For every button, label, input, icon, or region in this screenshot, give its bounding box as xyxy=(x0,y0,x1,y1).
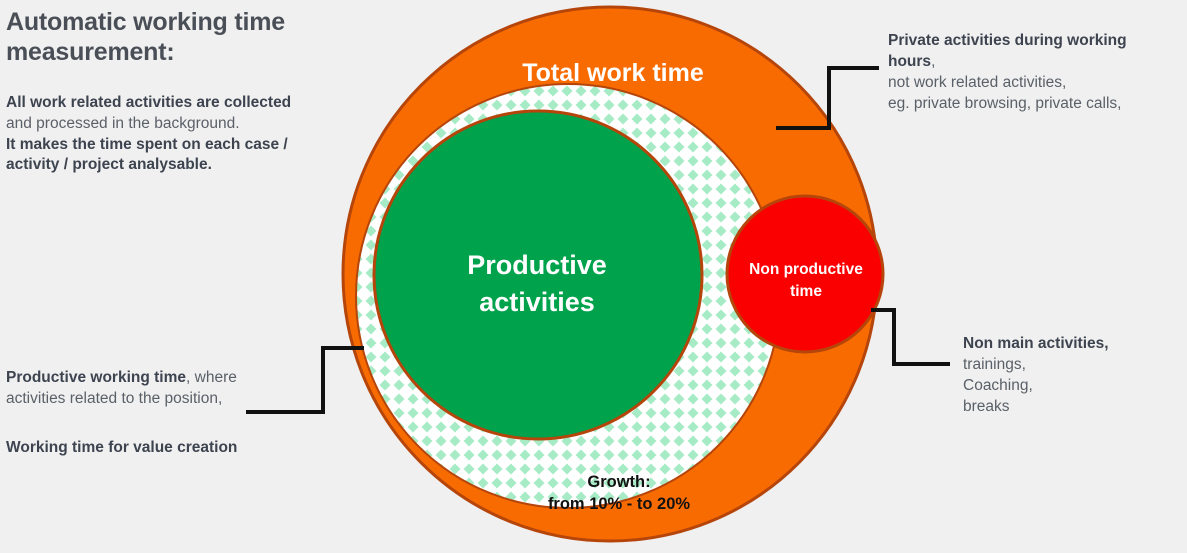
private-activities-comma: , xyxy=(931,53,935,70)
intro-paragraph: All work related activities are collecte… xyxy=(6,93,311,176)
callout-value-creation: Working time for value creation xyxy=(6,438,276,459)
label-growth-line1: Growth: xyxy=(587,473,650,491)
page-title: Automatic working time measurement: xyxy=(6,8,336,67)
callout-productive-working-time: Productive working time, where activitie… xyxy=(6,368,266,410)
non-main-activities-line2: trainings, xyxy=(963,356,1026,373)
leader-line-non-main-activities xyxy=(871,310,950,364)
right-callout-non-main-activities: Non main activities,trainings,Coaching,b… xyxy=(963,334,1187,418)
label-growth-line2: from 10% - to 20% xyxy=(548,495,690,513)
private-activities-text: Private activities during working hours,… xyxy=(888,31,1178,115)
left-callout-panel: Productive working time, where activitie… xyxy=(6,368,336,459)
diagram-canvas: Total work time Productive activities No… xyxy=(0,0,1187,553)
label-non-productive-time-line1: Non productive xyxy=(749,261,863,278)
non-main-activities-text: Non main activities,trainings,Coaching,b… xyxy=(963,334,1187,418)
non-main-activities-bold: Non main activities, xyxy=(963,335,1109,352)
left-text-panel: Automatic working time measurement: All … xyxy=(6,8,336,176)
intro-bold-2: It makes the time spent on each case / a… xyxy=(6,136,288,174)
private-activities-line2: not work related activities, xyxy=(888,74,1066,91)
label-non-productive-time-line2: time xyxy=(790,283,822,300)
private-activities-line3: eg. private browsing, private calls, xyxy=(888,95,1121,112)
label-total-work-time: Total work time xyxy=(522,59,704,87)
label-productive-activities-line2: activities xyxy=(479,287,595,317)
right-callout-private-activities: Private activities during working hours,… xyxy=(888,31,1178,115)
private-activities-bold: Private activities during working hours xyxy=(888,32,1127,70)
callout-productive-bold: Productive working time xyxy=(6,369,186,386)
intro-bold-1: All work related activities are collecte… xyxy=(6,94,291,111)
intro-normal-1: and processed in the background. xyxy=(6,115,240,132)
non-main-activities-line3: Coaching, xyxy=(963,377,1033,394)
label-productive-activities-line1: Productive xyxy=(467,250,607,280)
non-main-activities-line4: breaks xyxy=(963,398,1010,415)
